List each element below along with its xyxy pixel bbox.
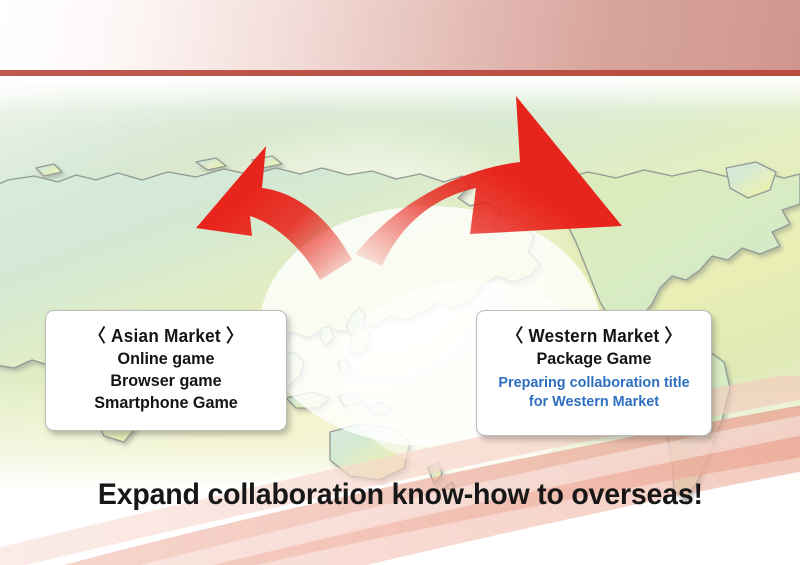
arrow-to-west-shape — [355, 96, 622, 266]
callout-western-note-line-1: Preparing collaboration title — [482, 373, 707, 392]
callout-asian-heading: 〈 Asian Market 〉 — [52, 324, 280, 348]
slide: Collaborative Efforts (2) Overseas — [0, 0, 800, 565]
arrow-group — [0, 76, 800, 506]
bottom-caption-text: Expand collaboration know-how to oversea… — [98, 478, 703, 512]
callout-western-line-1: Package Game — [483, 348, 705, 370]
callout-asian-line-3: Smartphone Game — [52, 392, 280, 414]
header-divider — [0, 70, 800, 76]
callout-asian-market[interactable]: 〈 Asian Market 〉 Online game Browser gam… — [45, 310, 287, 431]
arrow-to-asia-shape — [196, 146, 352, 280]
callout-asian-line-2: Browser game — [52, 370, 280, 392]
callout-western-note-line-2: for Western Market — [482, 392, 707, 411]
slide-header — [0, 0, 800, 70]
callout-asian-line-1: Online game — [52, 348, 280, 370]
callout-western-market[interactable]: 〈 Western Market 〉 Package Game Preparin… — [476, 310, 712, 436]
bottom-caption: Expand collaboration know-how to oversea… — [0, 478, 800, 512]
callout-western-heading: 〈 Western Market 〉 — [483, 324, 705, 348]
